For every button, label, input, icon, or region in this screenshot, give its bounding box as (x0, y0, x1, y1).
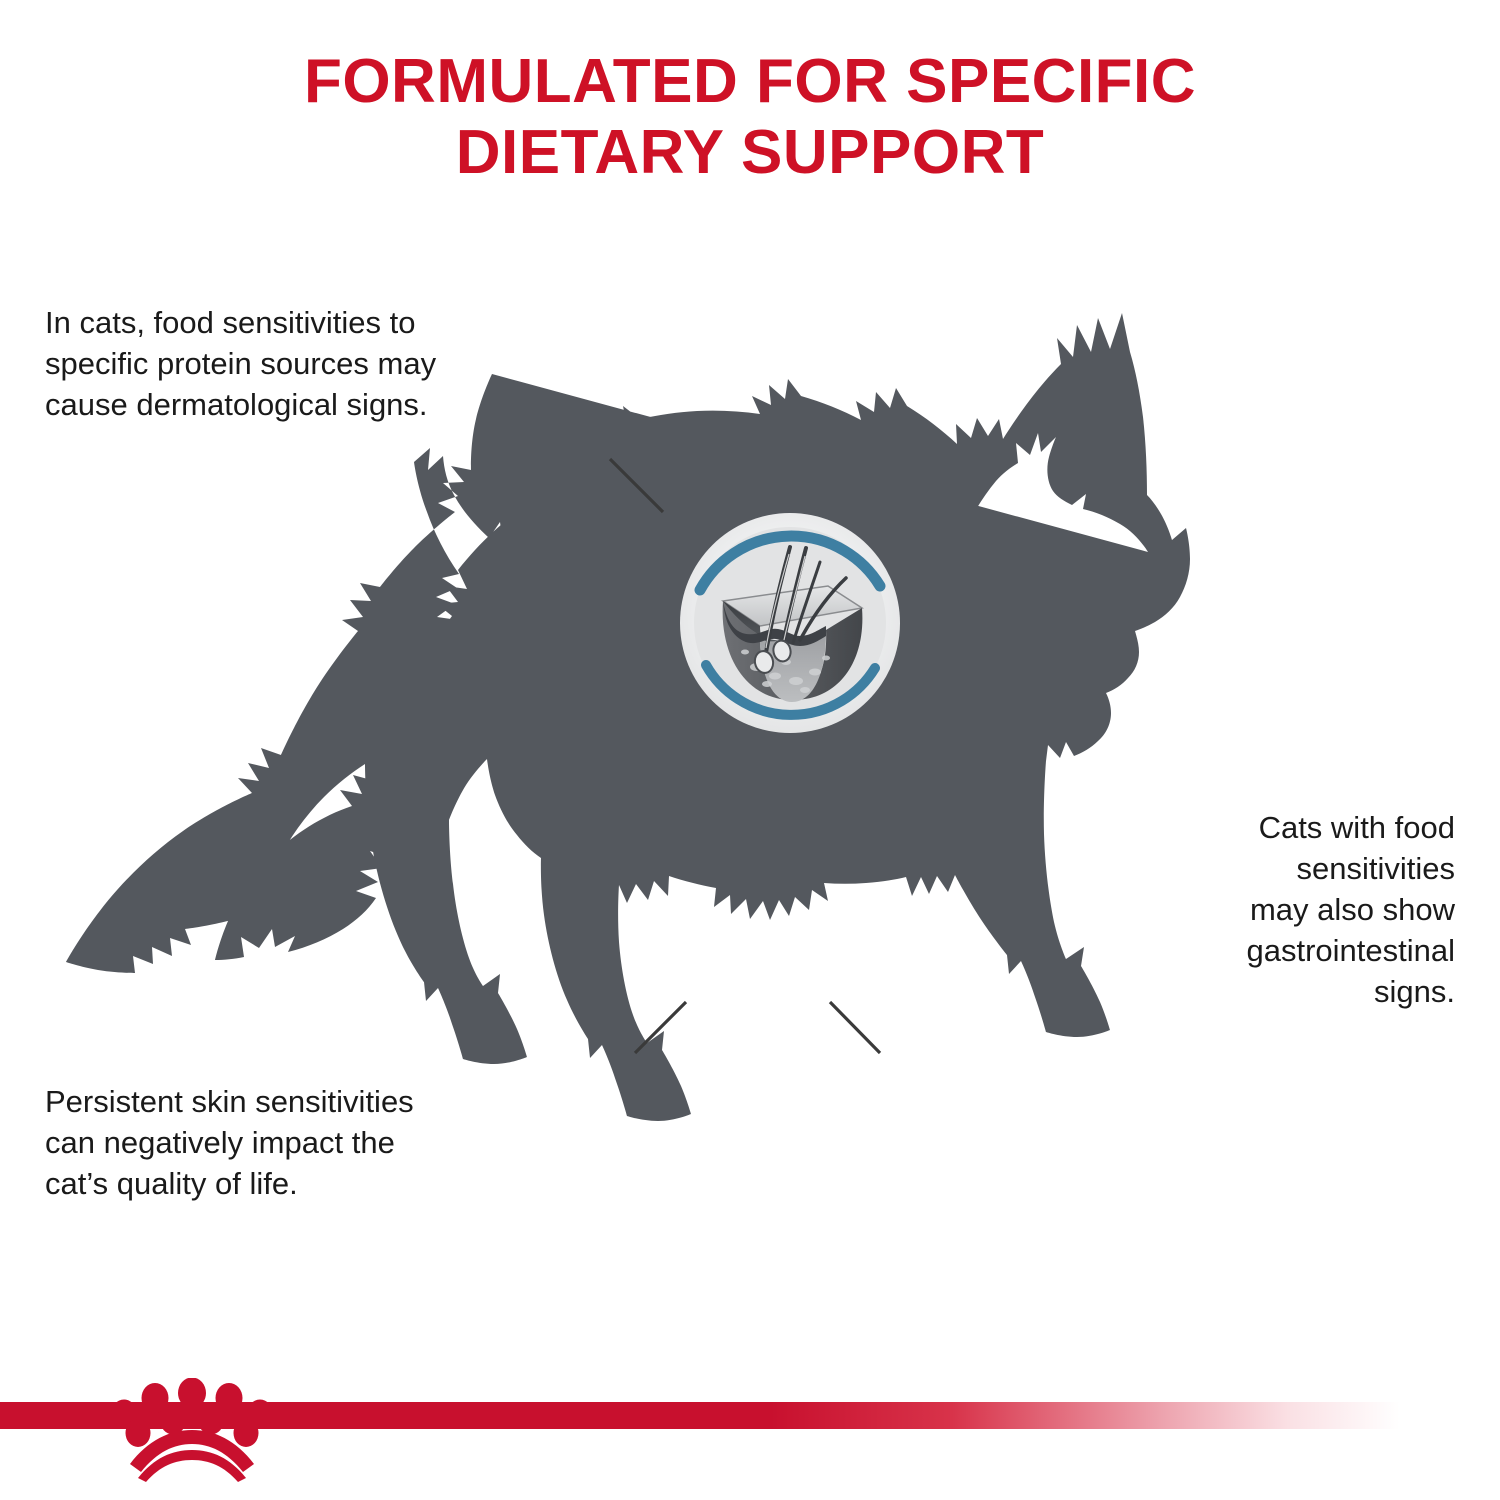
infographic-page: FORMULATED FOR SPECIFIC DIETARY SUPPORT (0, 0, 1500, 1500)
callout-line: sensitivities (1125, 849, 1455, 890)
dermatological-signs-callout: In cats, food sensitivities to specific … (45, 303, 605, 426)
callout-line: Cats with food (1125, 808, 1455, 849)
callout-line: Persistent skin sensitivities (45, 1082, 605, 1123)
callout-line: can negatively impact the (45, 1123, 605, 1164)
callout-line: may also show (1125, 890, 1455, 931)
callout-line: cat’s quality of life. (45, 1164, 605, 1205)
cat-silhouette-icon (66, 313, 1190, 1121)
quality-of-life-callout: Persistent skin sensitivities can negati… (45, 1082, 605, 1205)
callout-line: In cats, food sensitivities to (45, 303, 605, 344)
callout-line: signs. (1125, 972, 1455, 1013)
skin-cross-section-hair-follicle-icon (680, 513, 900, 733)
gastrointestinal-signs-callout: Cats with food sensitivities may also sh… (1125, 808, 1455, 1013)
callout-line: cause dermatological signs. (45, 385, 605, 426)
royal-canin-crown-logo (108, 1378, 276, 1482)
callout-line: gastrointestinal (1125, 931, 1455, 972)
callout-line: specific protein sources may (45, 344, 605, 385)
cat-artwork (0, 0, 1500, 1500)
